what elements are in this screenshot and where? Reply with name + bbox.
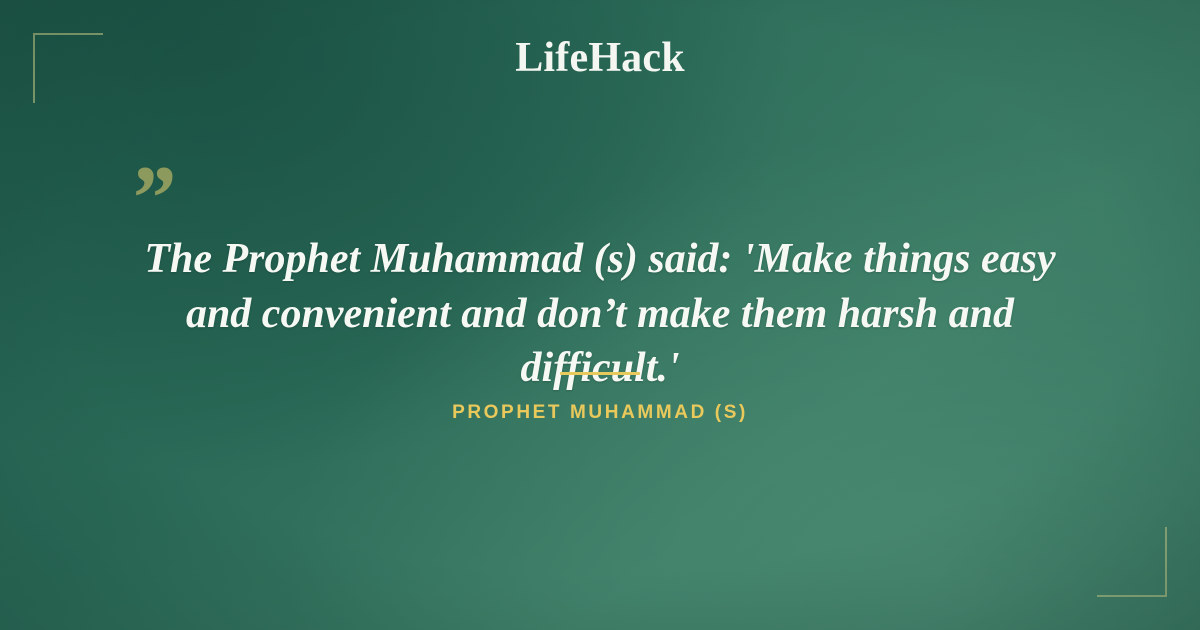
quotation-mark-icon: ” (128, 152, 172, 244)
brand-logo: LifeHack (0, 37, 1200, 79)
attribution-divider (560, 372, 640, 375)
quote-card: LifeHack ” The Prophet Muhammad (s) said… (0, 0, 1200, 630)
brand-logo-text: LifeHack (515, 37, 685, 79)
attribution-author: PROPHET MUHAMMAD (S) (452, 403, 748, 422)
quote-block: ” The Prophet Muhammad (s) said: 'Make t… (0, 160, 1200, 396)
attribution-block: PROPHET MUHAMMAD (S) (0, 372, 1200, 423)
quote-text: The Prophet Muhammad (s) said: 'Make thi… (0, 160, 1200, 396)
corner-bracket-bottom-right-icon (1097, 527, 1167, 597)
